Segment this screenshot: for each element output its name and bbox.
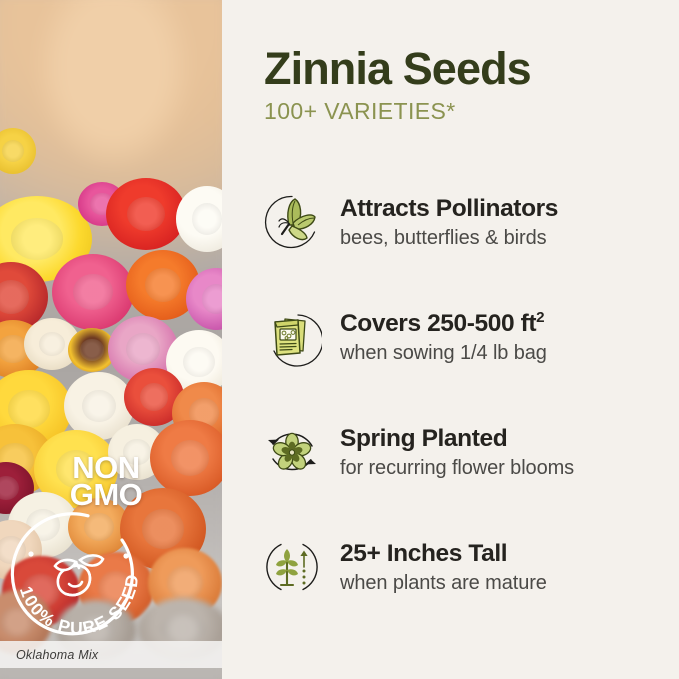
product-info-graphic: NON GMO 100% PURE SEED: [0, 0, 679, 679]
feature-subtitle: for recurring flower blooms: [340, 456, 574, 481]
feature-title: Attracts Pollinators: [340, 194, 558, 223]
feature-text: 25+ Inches Tall when plants are mature: [340, 531, 547, 596]
product-photo: NON GMO 100% PURE SEED: [0, 0, 222, 679]
butterfly-icon: [262, 192, 322, 252]
feature-item-coverage: Covers 250-500 ft2 when sowing 1/4 lb ba…: [262, 301, 674, 416]
feature-item-pollinators: Attracts Pollinators bees, butterflies &…: [262, 186, 674, 301]
feature-subtitle: when plants are mature: [340, 571, 547, 596]
page-title: Zinnia Seeds: [264, 44, 664, 94]
feature-text: Covers 250-500 ft2 when sowing 1/4 lb ba…: [340, 301, 547, 366]
feature-subtitle: when sowing 1/4 lb bag: [340, 341, 547, 366]
info-panel: Zinnia Seeds 100+ VARIETIES*: [222, 0, 679, 679]
flower-cycle-icon: [262, 422, 322, 482]
seed-packet-icon: [262, 307, 322, 367]
feature-item-height: 25+ Inches Tall when plants are mature: [262, 531, 674, 646]
feature-title: Covers 250-500 ft2: [340, 309, 547, 338]
photo-caption-bar: Oklahoma Mix: [0, 641, 222, 668]
feature-title: Spring Planted: [340, 424, 574, 453]
title-block: Zinnia Seeds 100+ VARIETIES*: [264, 44, 664, 125]
page-subtitle: 100+ VARIETIES*: [264, 98, 664, 125]
feature-text: Spring Planted for recurring flower bloo…: [340, 416, 574, 481]
superscript-two: 2: [536, 309, 544, 326]
feature-title: 25+ Inches Tall: [340, 539, 547, 568]
feature-list: Attracts Pollinators bees, butterflies &…: [262, 186, 674, 646]
feature-subtitle: bees, butterflies & birds: [340, 226, 558, 251]
plant-height-icon: [262, 537, 322, 597]
photo-caption: Oklahoma Mix: [0, 648, 98, 662]
feature-item-spring-planted: Spring Planted for recurring flower bloo…: [262, 416, 674, 531]
feature-text: Attracts Pollinators bees, butterflies &…: [340, 186, 558, 251]
